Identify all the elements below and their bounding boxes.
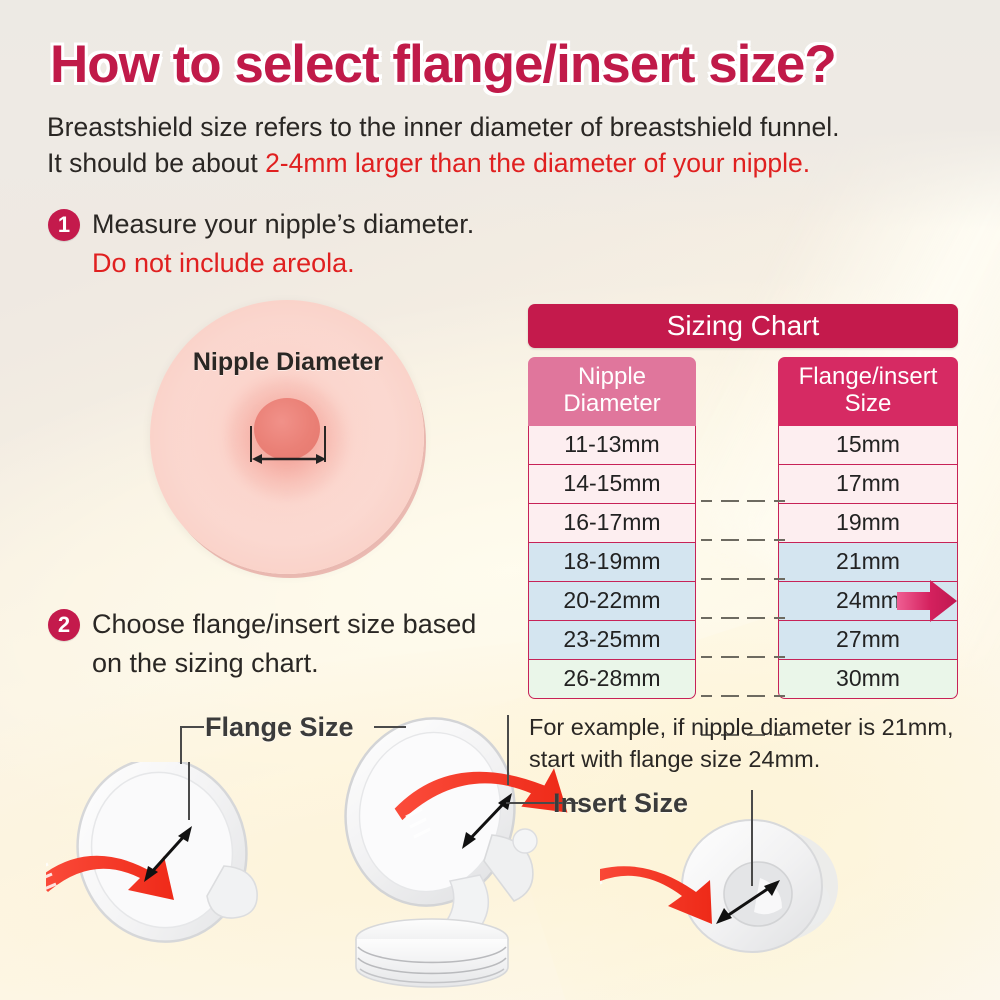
step-1-line-1: Measure your nipple’s diameter. — [92, 205, 474, 244]
nipple-diameter-column: Nipple Diameter 11-13mm 14-15mm 16-17mm … — [528, 357, 696, 699]
nipple-diameter-label: Nipple Diameter — [172, 348, 404, 377]
intro-line-1: Breastshield size refers to the inner di… — [47, 110, 957, 146]
table-row: 16-17mm — [528, 504, 696, 543]
table-row: 17mm — [778, 465, 958, 504]
right-arrow-icon — [897, 579, 957, 623]
table-row: 30mm — [778, 660, 958, 699]
sizing-chart-title: Sizing Chart — [528, 304, 958, 348]
intro-text: Breastshield size refers to the inner di… — [47, 110, 957, 182]
nipple-diameter-measure-icon — [250, 426, 326, 470]
table-row: 26-28mm — [528, 660, 696, 699]
infographic-page: How to select flange/insert size? Breast… — [0, 0, 1000, 1000]
sizing-chart: Sizing Chart Nipple Diameter 11-13mm 14-… — [528, 304, 958, 699]
step-2-text: Choose flange/insert size based on the s… — [92, 605, 476, 683]
table-row: 15mm — [778, 426, 958, 465]
flange-size-column: Flange/insert Size 15mm 17mm 19mm 21mm 2… — [778, 357, 958, 699]
table-row: 20-22mm — [528, 582, 696, 621]
table-row: 18-19mm — [528, 543, 696, 582]
step-2-line-1: Choose flange/insert size based — [92, 605, 476, 644]
intro-line-2: It should be about 2-4mm larger than the… — [47, 146, 957, 182]
step-2-number: 2 — [48, 609, 80, 641]
table-row: 23-25mm — [528, 621, 696, 660]
step-1: 1 Measure your nipple’s diameter. Do not… — [48, 205, 518, 283]
breast-diagram: Nipple Diameter — [150, 300, 424, 574]
breast-pump-illustration — [280, 715, 600, 1000]
step-2-line-2: on the sizing chart. — [92, 644, 476, 683]
pump-bottle-base — [356, 919, 508, 987]
table-row: 21mm — [778, 543, 958, 582]
flange-label-leader-left — [180, 726, 204, 728]
dashed-connectors — [701, 357, 785, 699]
flange-illustration-left — [46, 762, 296, 952]
table-row: 14-15mm — [528, 465, 696, 504]
insert-size-label: Insert Size — [553, 788, 688, 819]
table-row: 11-13mm — [528, 426, 696, 465]
sizing-chart-columns: Nipple Diameter 11-13mm 14-15mm 16-17mm … — [528, 357, 958, 699]
flange-size-label: Flange Size — [205, 712, 354, 743]
intro-line-2-emphasis: 2-4mm larger than the diameter of your n… — [265, 148, 810, 178]
page-title: How to select flange/insert size? — [50, 34, 970, 95]
double-arrow-icon — [252, 452, 326, 466]
column-header-nipple-diameter: Nipple Diameter — [528, 357, 696, 426]
flange-label-leader-right — [374, 726, 406, 728]
step-1-number: 1 — [48, 209, 80, 241]
table-row: 19mm — [778, 504, 958, 543]
step-2: 2 Choose flange/insert size based on the… — [48, 605, 528, 683]
column-header-flange-size: Flange/insert Size — [778, 357, 958, 426]
intro-line-2-plain: It should be about — [47, 148, 265, 178]
step-1-line-2: Do not include areola. — [92, 244, 474, 283]
table-row: 27mm — [778, 621, 958, 660]
flange-label-leader-left-drop — [180, 726, 182, 764]
step-1-text: Measure your nipple’s diameter. Do not i… — [92, 205, 474, 283]
